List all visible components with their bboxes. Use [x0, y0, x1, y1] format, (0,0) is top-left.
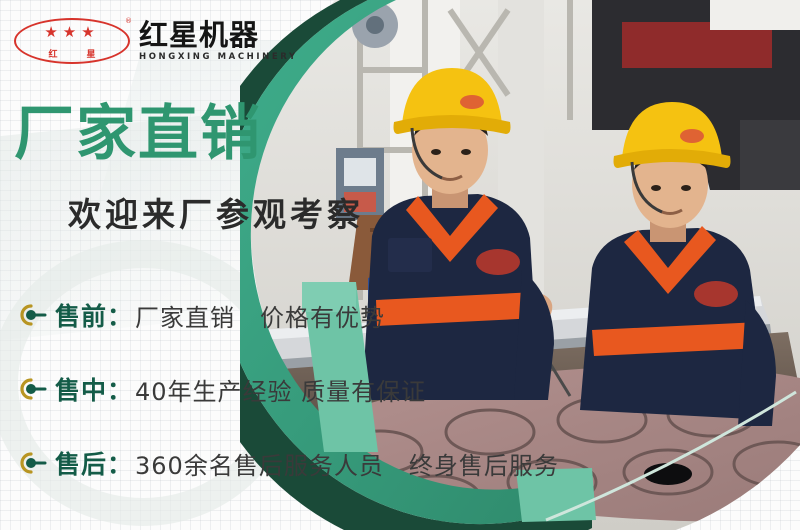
- headline: 厂家直销: [14, 104, 262, 164]
- bullet-text: 360余名售后服务人员 终身售后服务: [135, 446, 559, 481]
- bullet-marker-icon: [14, 450, 48, 476]
- registered-mark-icon: ®: [125, 17, 132, 25]
- bullet-marker-icon: [14, 302, 48, 328]
- bullet-marker-icon: [14, 376, 48, 402]
- brand-logo[interactable]: ★★★ 红 星 ® 红星机器 HONGXING MACHINERY: [14, 18, 298, 64]
- logo-stars-icon: ★★★: [14, 25, 130, 40]
- bullet-text: 厂家直销 价格有优势: [135, 298, 385, 333]
- logo-char-xing: 星: [86, 51, 95, 60]
- logo-oval-characters: 红 星: [14, 51, 130, 60]
- subheadline: 欢迎来厂参观考察: [68, 198, 364, 231]
- list-item: 售中： 40年生产经验 质量有保证: [14, 370, 574, 408]
- bullet-text: 40年生产经验 质量有保证: [135, 372, 426, 407]
- logo-wordmark: 红星机器 HONGXING MACHINERY: [139, 20, 298, 62]
- promo-banner: ★★★ 红 星 ® 红星机器 HONGXING MACHINERY 厂家直销 欢…: [0, 0, 800, 530]
- bullet-tag: 售后：: [55, 445, 133, 481]
- logo-name-cn: 红星机器: [139, 20, 298, 50]
- bullet-tag: 售前：: [55, 297, 133, 333]
- list-item: 售前： 厂家直销 价格有优势: [14, 296, 574, 334]
- logo-char-hong: 红: [48, 51, 57, 60]
- logo-oval-mark: ★★★ 红 星 ®: [14, 18, 130, 64]
- bullet-tag: 售中：: [55, 371, 133, 407]
- service-bullet-list: 售前： 厂家直销 价格有优势 售中： 40年生产经验 质量有保证: [14, 296, 574, 482]
- logo-name-en: HONGXING MACHINERY: [139, 52, 298, 62]
- list-item: 售后： 360余名售后服务人员 终身售后服务: [14, 444, 574, 482]
